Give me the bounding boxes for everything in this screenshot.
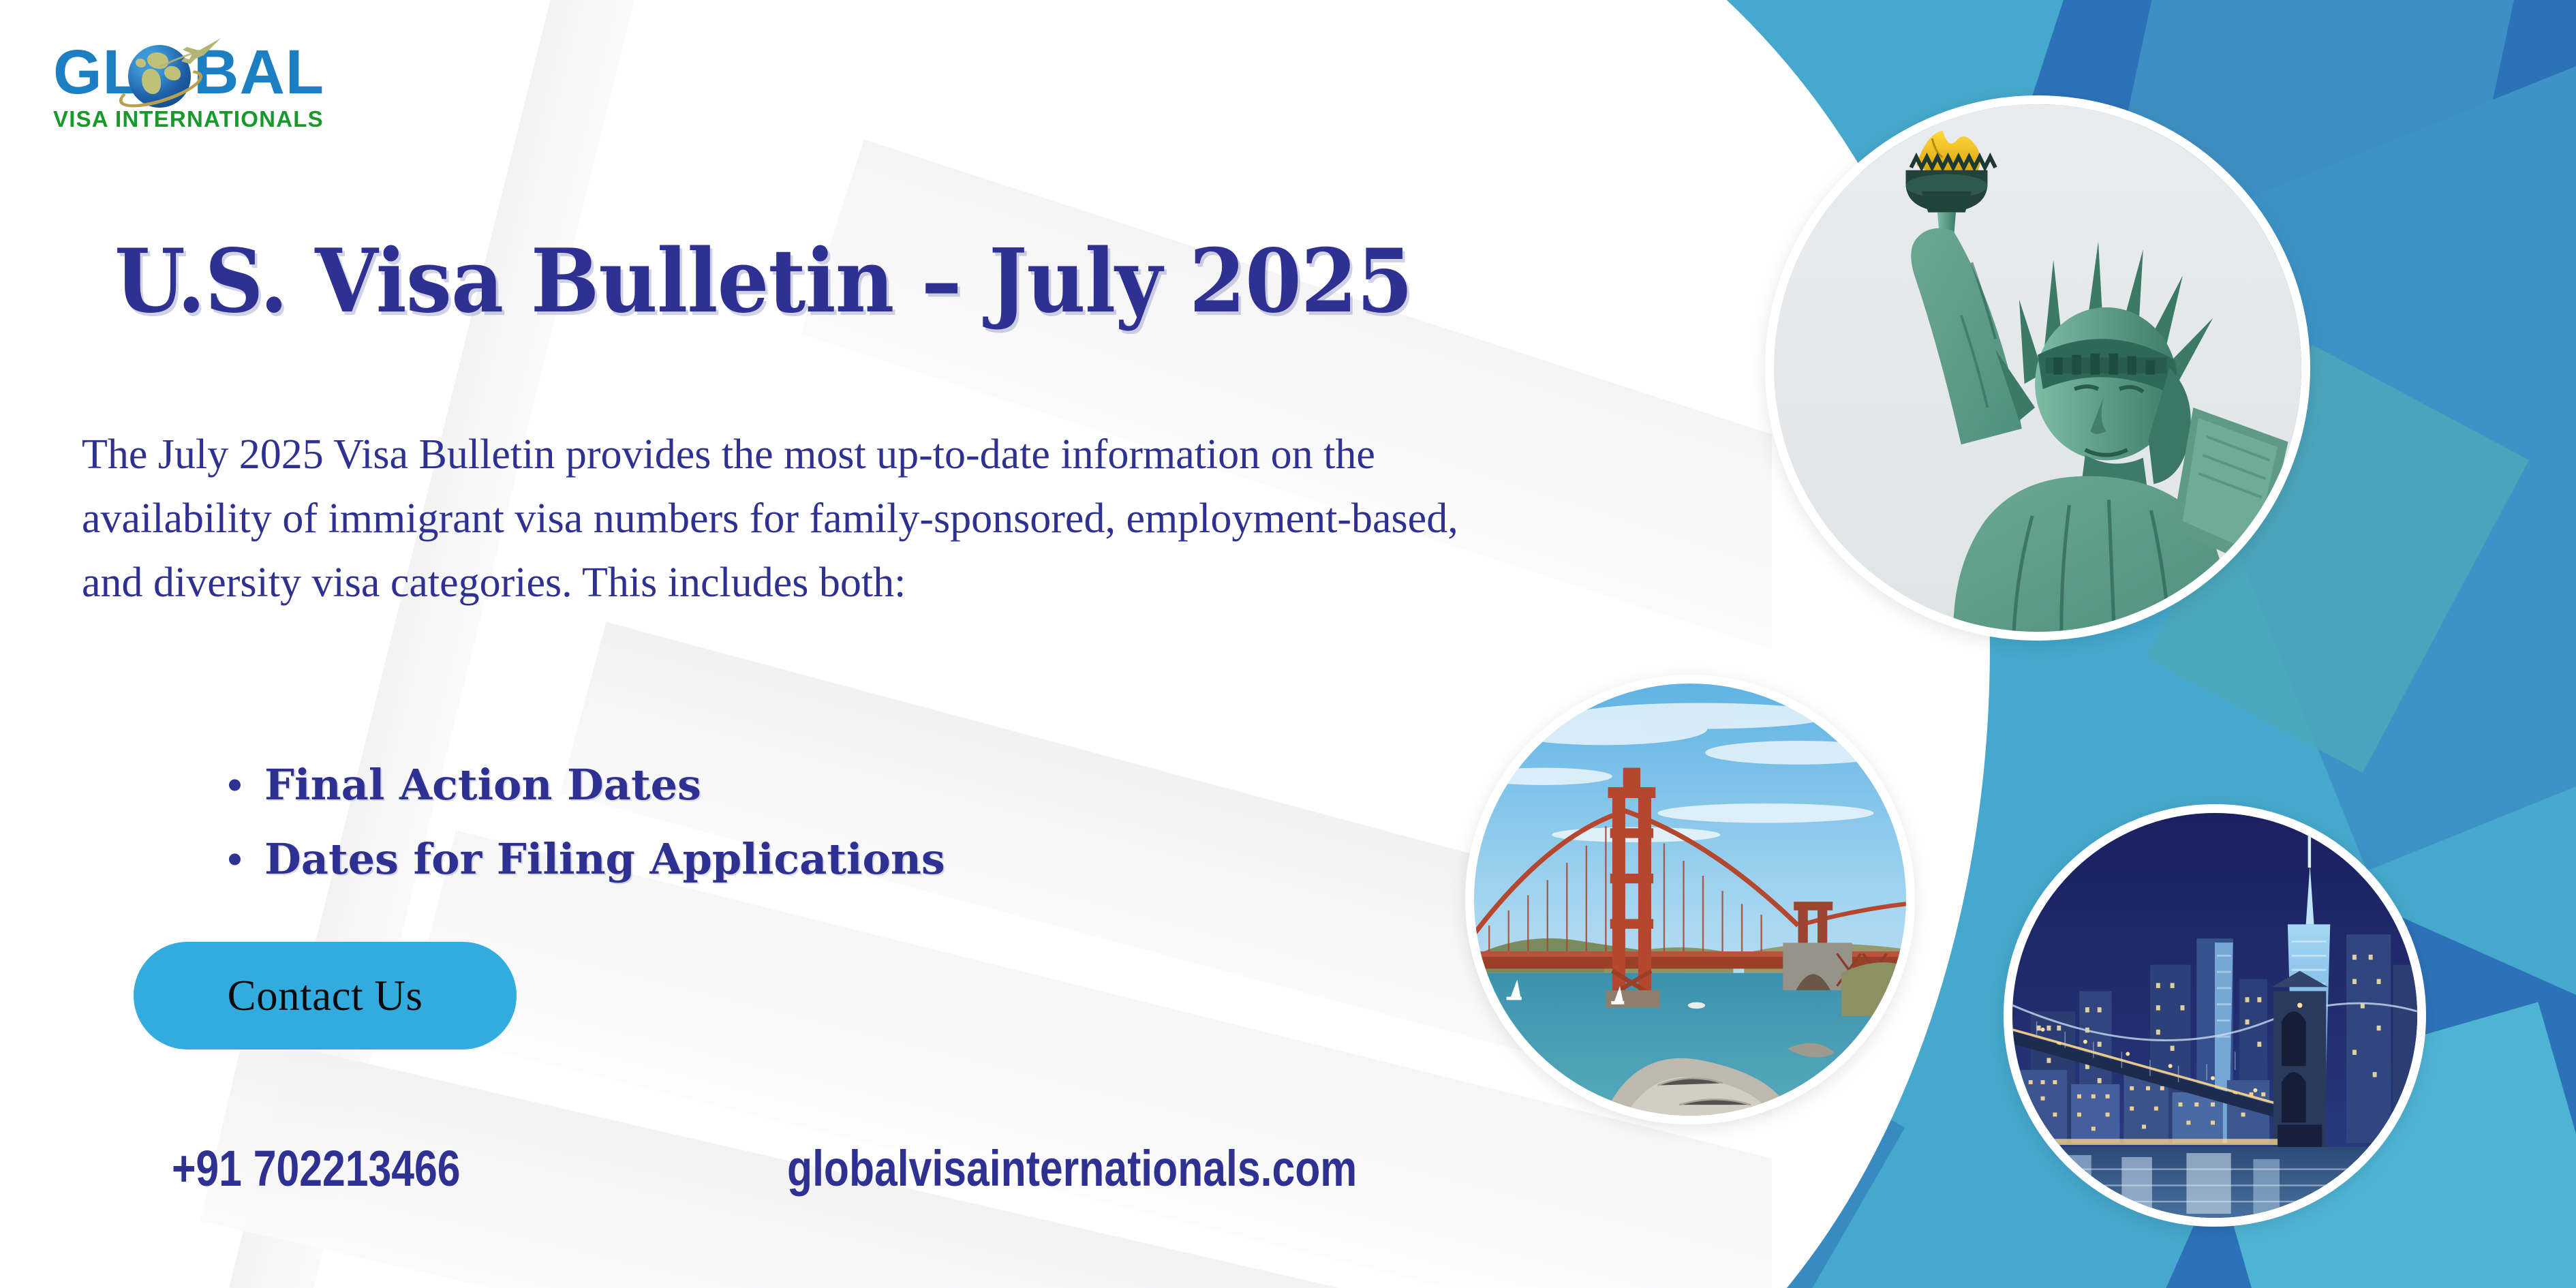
airplane-icon bbox=[157, 34, 225, 70]
banner-root: GL BAL VISA INTERNATIONALS U.S. Visa Bul… bbox=[0, 0, 2576, 1288]
bullet-dot-icon bbox=[229, 780, 241, 791]
list-item-label: Dates for Filing Applications bbox=[264, 834, 945, 884]
logo-wordmark: GL BAL bbox=[53, 40, 339, 105]
company-logo[interactable]: GL BAL VISA INTERNATIONALS bbox=[53, 40, 339, 135]
logo-tagline: VISA INTERNATIONALS bbox=[53, 106, 339, 132]
list-item-label: Final Action Dates bbox=[264, 760, 701, 810]
diagonal-streak-decoration bbox=[0, 0, 1772, 1288]
contact-us-button[interactable]: Contact Us bbox=[134, 942, 517, 1049]
footer-website-url[interactable]: globalvisainternationals.com bbox=[787, 1139, 1357, 1197]
new-york-skyline-photo bbox=[2004, 804, 2426, 1227]
list-item: Dates for Filing Applications bbox=[225, 823, 945, 897]
feature-list: Final Action Dates Dates for Filing Appl… bbox=[225, 748, 945, 896]
page-title: U.S. Visa Bulletin – July 2025 bbox=[114, 236, 1413, 327]
golden-gate-bridge-photo bbox=[1465, 675, 1915, 1124]
list-item: Final Action Dates bbox=[225, 748, 945, 823]
footer-phone-number[interactable]: +91 702213466 bbox=[172, 1139, 461, 1197]
globe-landmass-4 bbox=[136, 59, 146, 67]
bullet-dot-icon bbox=[229, 853, 241, 865]
statue-of-liberty-photo bbox=[1765, 95, 2310, 641]
body-paragraph: The July 2025 Visa Bulletin provides the… bbox=[82, 423, 1513, 615]
